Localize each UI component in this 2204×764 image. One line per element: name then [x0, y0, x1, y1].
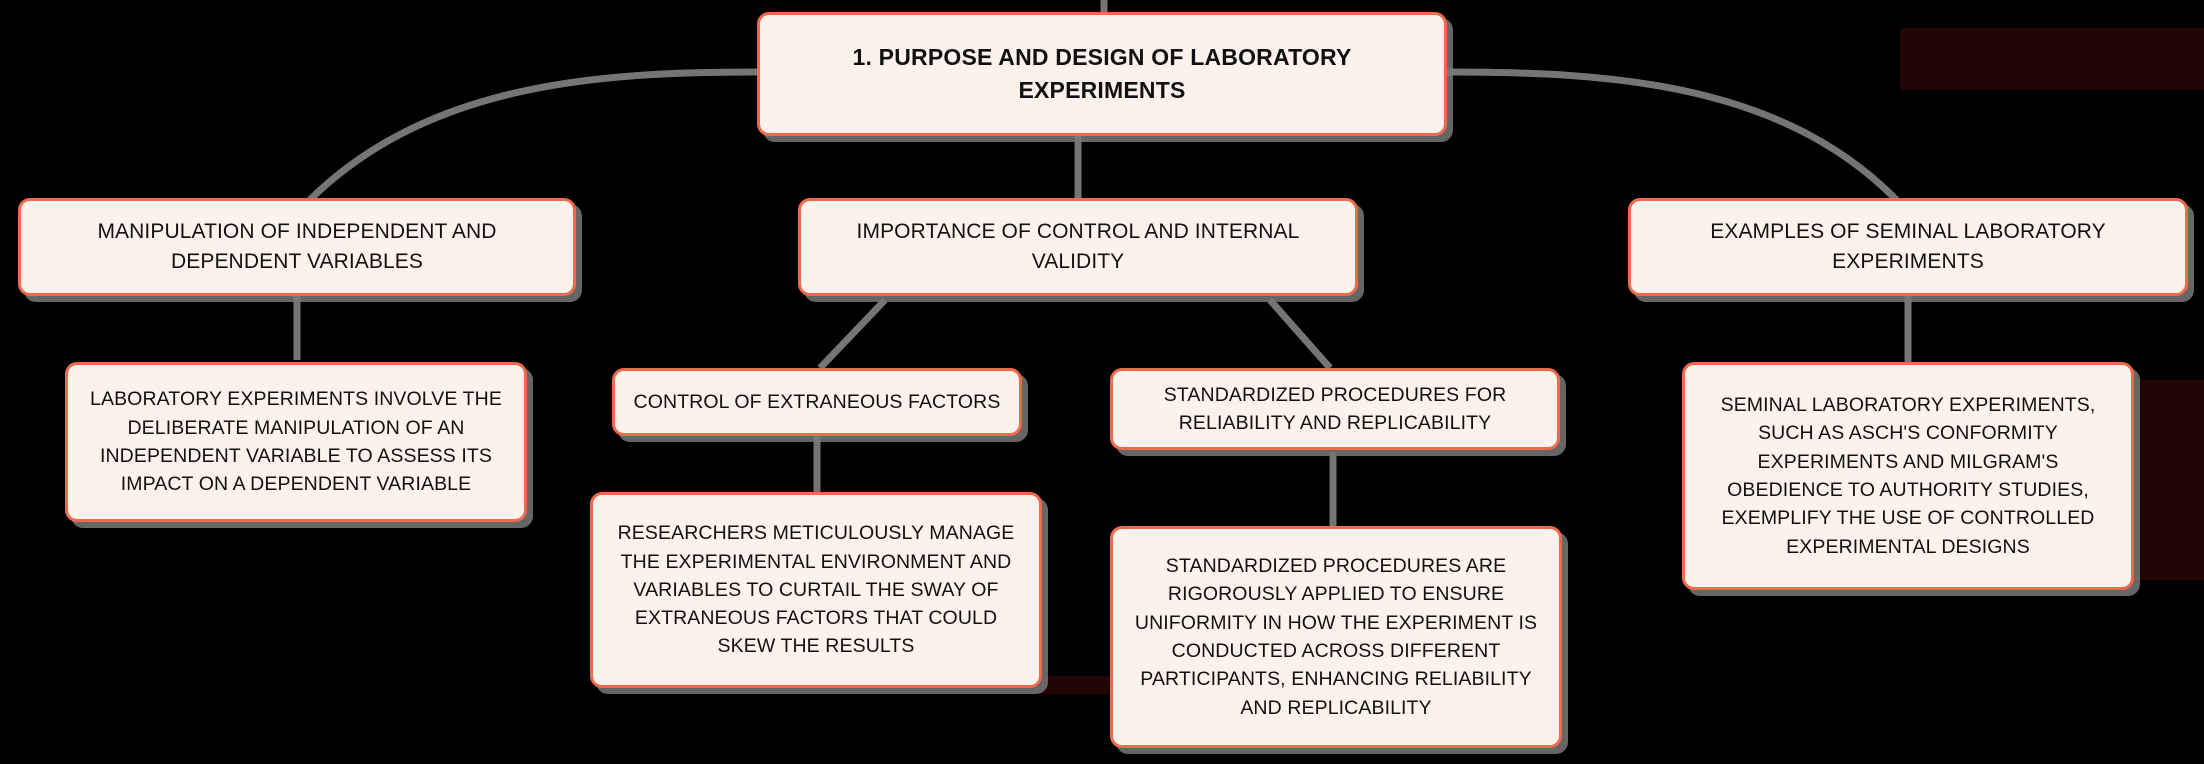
node-root-label: 1. PURPOSE AND DESIGN OF LABORATORY EXPE… [776, 41, 1428, 108]
node-leaf-manipulation-detail-label: LABORATORY EXPERIMENTS INVOLVE THE DELIB… [84, 385, 508, 498]
edge-root-to-manipulation [300, 72, 757, 210]
node-leaf-standardized-detail-label: STANDARDIZED PROCEDURES ARE RIGOROUSLY A… [1129, 552, 1543, 722]
node-branch-manipulation-label: MANIPULATION OF INDEPENDENT AND DEPENDEN… [37, 217, 557, 278]
edge-control-to-extraneous [820, 300, 885, 368]
node-leaf-extraneous-detail[interactable]: RESEARCHERS METICULOUSLY MANAGE THE EXPE… [590, 492, 1042, 688]
node-leaf-standardized[interactable]: STANDARDIZED PROCEDURES FOR RELIABILITY … [1110, 368, 1560, 450]
node-leaf-standardized-detail[interactable]: STANDARDIZED PROCEDURES ARE RIGOROUSLY A… [1110, 526, 1562, 748]
node-leaf-examples-detail-label: SEMINAL LABORATORY EXPERIMENTS, SUCH AS … [1701, 391, 2115, 561]
edge-control-to-standardized [1270, 300, 1330, 368]
node-leaf-extraneous-label: CONTROL OF EXTRANEOUS FACTORS [631, 388, 1003, 416]
node-branch-control[interactable]: IMPORTANCE OF CONTROL AND INTERNAL VALID… [798, 198, 1358, 296]
node-leaf-extraneous-detail-label: RESEARCHERS METICULOUSLY MANAGE THE EXPE… [609, 519, 1023, 660]
node-branch-examples-label: EXAMPLES OF SEMINAL LABORATORY EXPERIMEN… [1647, 217, 2169, 278]
node-root[interactable]: 1. PURPOSE AND DESIGN OF LABORATORY EXPE… [757, 12, 1447, 136]
node-leaf-examples-detail[interactable]: SEMINAL LABORATORY EXPERIMENTS, SUCH AS … [1682, 362, 2134, 590]
node-branch-control-label: IMPORTANCE OF CONTROL AND INTERNAL VALID… [817, 217, 1339, 278]
node-branch-examples[interactable]: EXAMPLES OF SEMINAL LABORATORY EXPERIMEN… [1628, 198, 2188, 296]
mindmap-canvas: 1. PURPOSE AND DESIGN OF LABORATORY EXPE… [0, 0, 2204, 764]
node-leaf-manipulation-detail[interactable]: LABORATORY EXPERIMENTS INVOLVE THE DELIB… [65, 362, 527, 522]
node-branch-manipulation[interactable]: MANIPULATION OF INDEPENDENT AND DEPENDEN… [18, 198, 576, 296]
edge-root-to-examples [1447, 72, 1906, 210]
node-leaf-standardized-label: STANDARDIZED PROCEDURES FOR RELIABILITY … [1129, 381, 1541, 438]
node-leaf-extraneous[interactable]: CONTROL OF EXTRANEOUS FACTORS [612, 368, 1022, 436]
